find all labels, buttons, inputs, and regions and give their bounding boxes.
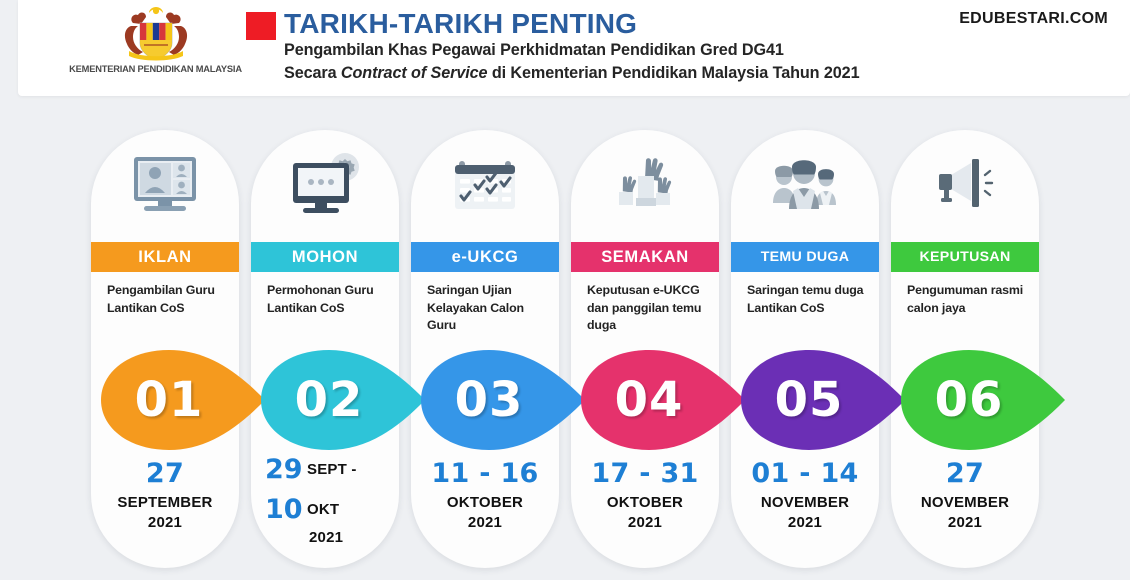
header-bar: KEMENTERIAN PENDIDIKAN MALAYSIA TARIKH-T… bbox=[18, 0, 1130, 96]
site-watermark: EDUBESTARI.COM bbox=[959, 10, 1108, 28]
date-month-end: OKT bbox=[307, 496, 339, 517]
raised-hands-podium-icon bbox=[608, 154, 682, 219]
date-day: 01 - 14 bbox=[731, 460, 879, 487]
date-month: OKTOBER bbox=[411, 494, 559, 511]
step-number-badge: 03 bbox=[419, 348, 587, 452]
timeline-step-card-02: MOHON Permohonan Guru Lantikan CoS 29 SE… bbox=[251, 130, 399, 568]
step-icon-area bbox=[251, 130, 399, 242]
step-icon-area bbox=[91, 130, 239, 242]
date-month: NOVEMBER bbox=[731, 494, 879, 511]
monitor-settings-icon bbox=[287, 153, 363, 220]
timeline-step-card-01: IKLAN Pengambilan Guru Lantikan CoS 27 S… bbox=[91, 130, 239, 568]
date-row-start: 29 SEPT - bbox=[265, 456, 399, 483]
step-number-badge: 04 bbox=[579, 348, 747, 452]
date-day-start: 29 bbox=[265, 456, 307, 483]
step-description: Permohonan Guru Lantikan CoS bbox=[267, 282, 391, 317]
red-marker-square bbox=[246, 12, 276, 40]
step-number: 01 bbox=[99, 348, 239, 452]
step-number-badge: 02 bbox=[259, 348, 427, 452]
timeline-step-card-03: e-UKCG Saringan Ujian Kelayakan Calon Gu… bbox=[411, 130, 559, 568]
step-label-band: TEMU DUGA bbox=[731, 242, 879, 272]
subtitle-2-post: di Kementerian Pendidikan Malaysia Tahun… bbox=[487, 64, 859, 82]
timeline-steps: IKLAN Pengambilan Guru Lantikan CoS 27 S… bbox=[0, 130, 1130, 580]
calendar-checks-icon bbox=[447, 155, 523, 218]
date-month: NOVEMBER bbox=[891, 494, 1039, 511]
step-number: 02 bbox=[259, 348, 399, 452]
step-number: 03 bbox=[419, 348, 559, 452]
step-description: Keputusan e-UKCG dan panggilan temu duga bbox=[587, 282, 711, 335]
subtitle-2-pre: Secara bbox=[284, 64, 341, 82]
date-day: 27 bbox=[891, 460, 1039, 487]
step-label: KEPUTUSAN bbox=[920, 249, 1011, 265]
step-number-badge: 05 bbox=[739, 348, 907, 452]
date-day: 11 - 16 bbox=[411, 460, 559, 487]
step-date-block: 17 - 31 OKTOBER 2021 bbox=[571, 460, 719, 531]
people-group-icon bbox=[767, 155, 843, 218]
date-day-end: 10 bbox=[265, 496, 307, 523]
date-year: 2021 bbox=[91, 514, 239, 531]
step-label-band: KEPUTUSAN bbox=[891, 242, 1039, 272]
step-label-band: SEMAKAN bbox=[571, 242, 719, 272]
step-icon-area bbox=[891, 130, 1039, 242]
subtitle-line-2: Secara Contract of Service di Kementeria… bbox=[284, 62, 859, 85]
date-year: 2021 bbox=[731, 514, 879, 531]
step-date-block: 27 NOVEMBER 2021 bbox=[891, 460, 1039, 531]
video-conference-icon bbox=[128, 153, 202, 220]
step-date-block: 01 - 14 NOVEMBER 2021 bbox=[731, 460, 879, 531]
date-year: 2021 bbox=[571, 514, 719, 531]
timeline-step-card-06: KEPUTUSAN Pengumuman rasmi calon jaya 27… bbox=[891, 130, 1039, 568]
step-date-block: 29 SEPT - 10 OKT 2021 bbox=[251, 456, 399, 546]
date-day: 17 - 31 bbox=[571, 460, 719, 487]
step-label-band: IKLAN bbox=[91, 242, 239, 272]
step-description: Pengambilan Guru Lantikan CoS bbox=[107, 282, 231, 317]
step-number-badge: 06 bbox=[899, 348, 1067, 452]
malaysia-coat-of-arms-icon bbox=[53, 6, 258, 62]
step-label: e-UKCG bbox=[452, 248, 519, 267]
step-number-badge: 01 bbox=[99, 348, 267, 452]
subtitle-line-1: Pengambilan Khas Pegawai Perkhidmatan Pe… bbox=[284, 39, 859, 62]
ministry-name: KEMENTERIAN PENDIDIKAN MALAYSIA bbox=[53, 64, 258, 74]
subtitle-2-italic: Contract of Service bbox=[341, 64, 488, 82]
step-number: 04 bbox=[579, 348, 719, 452]
step-label: TEMU DUGA bbox=[761, 249, 850, 265]
date-month: SEPTEMBER bbox=[91, 494, 239, 511]
date-row-end: 10 OKT bbox=[265, 496, 399, 523]
step-label: MOHON bbox=[292, 248, 358, 267]
step-number: 05 bbox=[739, 348, 879, 452]
ministry-logo-block: KEMENTERIAN PENDIDIKAN MALAYSIA bbox=[53, 6, 258, 74]
step-date-block: 11 - 16 OKTOBER 2021 bbox=[411, 460, 559, 531]
step-icon-area bbox=[571, 130, 719, 242]
timeline-step-card-05: TEMU DUGA Saringan temu duga Lantikan Co… bbox=[731, 130, 879, 568]
step-description: Saringan temu duga Lantikan CoS bbox=[747, 282, 871, 317]
step-icon-area bbox=[411, 130, 559, 242]
page-title: TARIKH-TARIKH PENTING bbox=[284, 9, 859, 39]
date-day: 27 bbox=[91, 460, 239, 487]
timeline-step-card-04: SEMAKAN Keputusan e-UKCG dan panggilan t… bbox=[571, 130, 719, 568]
title-block: TARIKH-TARIKH PENTING Pengambilan Khas P… bbox=[284, 9, 859, 85]
step-icon-area bbox=[731, 130, 879, 242]
step-date-block: 27 SEPTEMBER 2021 bbox=[91, 460, 239, 531]
step-label-band: MOHON bbox=[251, 242, 399, 272]
step-description: Pengumuman rasmi calon jaya bbox=[907, 282, 1031, 317]
date-year: 2021 bbox=[309, 529, 399, 546]
step-number: 06 bbox=[899, 348, 1039, 452]
date-month-start: SEPT - bbox=[307, 456, 357, 477]
megaphone-icon bbox=[927, 155, 1003, 218]
date-month: OKTOBER bbox=[571, 494, 719, 511]
step-description: Saringan Ujian Kelayakan Calon Guru bbox=[427, 282, 551, 335]
date-year: 2021 bbox=[411, 514, 559, 531]
date-year: 2021 bbox=[891, 514, 1039, 531]
step-label: IKLAN bbox=[138, 248, 191, 267]
step-label-band: e-UKCG bbox=[411, 242, 559, 272]
step-label: SEMAKAN bbox=[601, 248, 689, 267]
